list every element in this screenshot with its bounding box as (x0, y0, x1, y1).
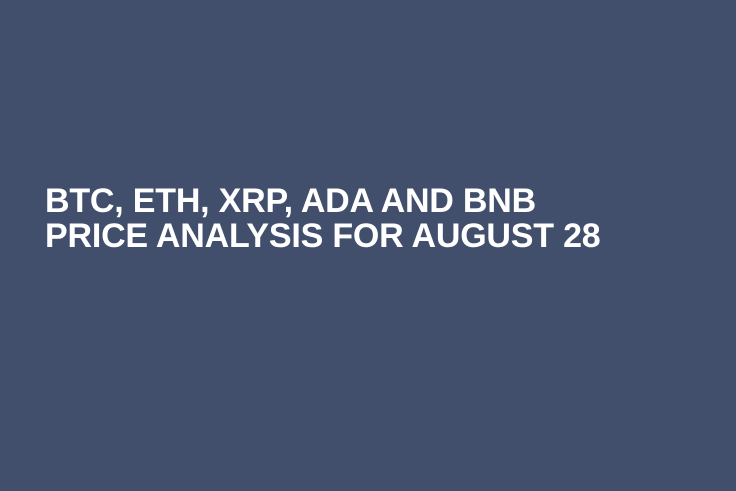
headline-line-2: PRICE ANALYSIS FOR AUGUST 28 (45, 219, 665, 253)
headline-line-1: BTC, ETH, XRP, ADA AND BNB (45, 184, 665, 218)
headline-block: BTC, ETH, XRP, ADA AND BNB PRICE ANALYSI… (45, 184, 665, 253)
article-hero-banner: BTC, ETH, XRP, ADA AND BNB PRICE ANALYSI… (0, 0, 736, 491)
